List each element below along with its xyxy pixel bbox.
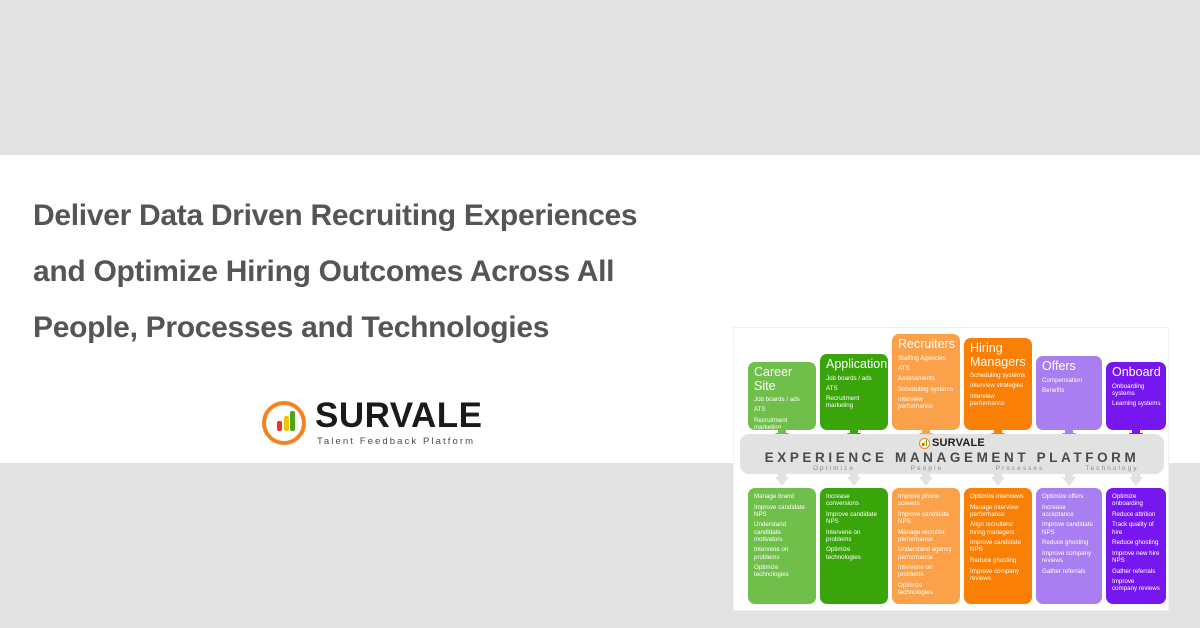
stage-item: Compensation <box>1042 377 1097 384</box>
left-column: Deliver Data Driven Recruiting Experienc… <box>0 155 710 463</box>
stage-item: Interview performance <box>898 396 955 410</box>
outcome-item: Improve new hire NPS <box>1112 550 1161 564</box>
outcome-item: Intervene on problems <box>754 546 811 560</box>
stage-item: Benefits <box>1042 387 1097 394</box>
outcome-item: Optimize offers <box>1042 493 1097 500</box>
logo-bar-red <box>277 421 282 431</box>
outcome-item: Reduce ghosting <box>1112 539 1161 546</box>
outcome-item: Manage brand <box>754 493 811 500</box>
outcome-item: Track quality of hire <box>1112 521 1161 535</box>
stage-card-top[interactable]: RecruitersStaffing AgenciesATSAssessment… <box>892 334 960 430</box>
platform-bar-logo: SURVALE <box>919 437 985 449</box>
stage-item: Interview strategies <box>970 382 1027 389</box>
outcome-item: Intervene on problems <box>826 529 883 543</box>
platform-arrow-down-icon <box>991 477 1005 486</box>
stage-item: Interview performance <box>970 393 1027 407</box>
platform-arrow-down-icon <box>919 477 933 486</box>
platform-bar-title: EXPERIENCE MANAGEMENT PLATFORM <box>740 450 1164 465</box>
stage-item: Scheduling systems <box>898 386 955 393</box>
stage-item: ATS <box>898 365 955 372</box>
outcome-item: Increase conversions <box>826 493 883 507</box>
stage-title: Offers <box>1042 360 1097 374</box>
platform-sublabel: Technology <box>1070 465 1154 472</box>
stage-item: Assessments <box>898 375 955 382</box>
survale-logo-text: SURVALE Talent Feedback Platform <box>315 399 483 447</box>
stage-card-top[interactable]: Career SiteJob boards / adsATSRecruitmen… <box>748 362 816 430</box>
stage-item: Recruitment marketing <box>826 395 883 409</box>
outcome-item: Reduce ghosting <box>1042 539 1097 546</box>
outcome-item: Optimize onboarding <box>1112 493 1161 507</box>
content-card: Deliver Data Driven Recruiting Experienc… <box>0 155 1200 463</box>
stage-card-top[interactable]: Hiring ManagersScheduling systemsIntervi… <box>964 338 1032 430</box>
page-title: Deliver Data Driven Recruiting Experienc… <box>33 188 693 356</box>
stage-card-bottom[interactable]: Optimize offersIncrease acceptanceImprov… <box>1036 488 1102 604</box>
outcome-item: Improve candidate NPS <box>898 511 955 525</box>
logo-wordmark: SURVALE <box>315 399 483 433</box>
stage-title: Recruiters <box>898 338 955 352</box>
outcome-item: Reduce ghosting <box>970 557 1027 564</box>
stage-item: Job boards / ads <box>754 396 811 403</box>
experience-management-platform-bar: SURVALE EXPERIENCE MANAGEMENT PLATFORM O… <box>740 434 1164 474</box>
logo-tagline: Talent Feedback Platform <box>317 436 483 447</box>
outcome-item: Improve company reviews <box>1112 578 1161 592</box>
survale-logo: SURVALE Talent Feedback Platform <box>262 399 483 447</box>
outcome-item: Improve company reviews <box>970 568 1027 582</box>
platform-arrow-down-icon <box>1129 477 1143 486</box>
platform-sublabel: Optimize <box>792 465 876 472</box>
outcome-item: Improve candidate NPS <box>754 504 811 518</box>
platform-bar-sublabels: OptimizePeopleProcessesTechnology <box>740 465 1164 475</box>
outcome-item: Improve candidate NPS <box>1042 521 1097 535</box>
platform-logo-bar-green <box>926 440 927 446</box>
platform-sublabel: People <box>890 465 964 472</box>
diagram-canvas: Career SiteJob boards / adsATSRecruitmen… <box>734 328 1168 610</box>
stage-item: ATS <box>826 385 883 392</box>
outcome-item: Manage interview performance <box>970 504 1027 518</box>
stage-item: Onboarding systems <box>1112 383 1161 397</box>
platform-arrow-down-icon <box>775 477 789 486</box>
outcome-item: Intervene on problems <box>898 564 955 578</box>
outcome-item: Optimize interviews <box>970 493 1027 500</box>
stage-card-bottom[interactable]: Increase conversionsImprove candidate NP… <box>820 488 888 604</box>
stage-card-top[interactable]: ApplicationJob boards / adsATSRecruitmen… <box>820 354 888 430</box>
outcome-item: Gather referrals <box>1112 568 1161 575</box>
stage-item: Scheduling systems <box>970 372 1027 379</box>
stage-card-bottom[interactable]: Optimize interviewsManage interview perf… <box>964 488 1032 604</box>
outcome-item: Gather referrals <box>1042 568 1097 575</box>
platform-bar-wordmark: SURVALE <box>932 437 985 449</box>
outcome-item: Increase acceptance <box>1042 504 1097 518</box>
stage-title: Hiring Managers <box>970 342 1027 369</box>
stage-title: Application <box>826 358 883 372</box>
stage-item: ATS <box>754 406 811 413</box>
logo-bar-yellow <box>284 416 289 431</box>
outcome-item: Align recruiters/ hiring managers <box>970 521 1027 535</box>
outcome-item: Improve company reviews <box>1042 550 1097 564</box>
outcome-item: Optimize technologies <box>826 546 883 560</box>
stage-card-top[interactable]: OnboardOnboarding systemsLearning system… <box>1106 362 1166 430</box>
platform-sublabel: Processes <box>978 465 1062 472</box>
stage-card-bottom[interactable]: Improve phone screensImprove candidate N… <box>892 488 960 604</box>
stage-title: Onboard <box>1112 366 1161 380</box>
stage-item: Job boards / ads <box>826 375 883 382</box>
platform-arrow-down-icon <box>1062 477 1076 486</box>
stage-card-bottom[interactable]: Manage brandImprove candidate NPSUnderst… <box>748 488 816 604</box>
outcome-item: Manage recruiter performance <box>898 529 955 543</box>
logo-bar-green <box>290 411 295 431</box>
platform-arrow-down-icon <box>847 477 861 486</box>
outcome-item: Reduce attrition <box>1112 511 1161 518</box>
outcome-item: Improve candidate NPS <box>970 539 1027 553</box>
stage-item: Staffing Agencies <box>898 355 955 362</box>
survale-logo-icon <box>262 401 306 445</box>
outcome-item: Understand candidate motivators <box>754 521 811 543</box>
outcome-item: Optimize technologies <box>898 582 955 596</box>
outcome-item: Understand agency performance <box>898 546 955 560</box>
platform-bar-logo-icon <box>919 438 930 449</box>
outcome-item: Optimize technologies <box>754 564 811 578</box>
outcome-item: Improve phone screens <box>898 493 955 507</box>
stage-item: Learning systems <box>1112 400 1161 407</box>
outcome-item: Improve candidate NPS <box>826 511 883 525</box>
recruiting-lifecycle-diagram: Career SiteJob boards / adsATSRecruitmen… <box>733 327 1169 611</box>
stage-title: Career Site <box>754 366 811 393</box>
stage-card-top[interactable]: OffersCompensationBenefits <box>1036 356 1102 430</box>
stage-card-bottom[interactable]: Optimize onboardingReduce attritionTrack… <box>1106 488 1166 604</box>
